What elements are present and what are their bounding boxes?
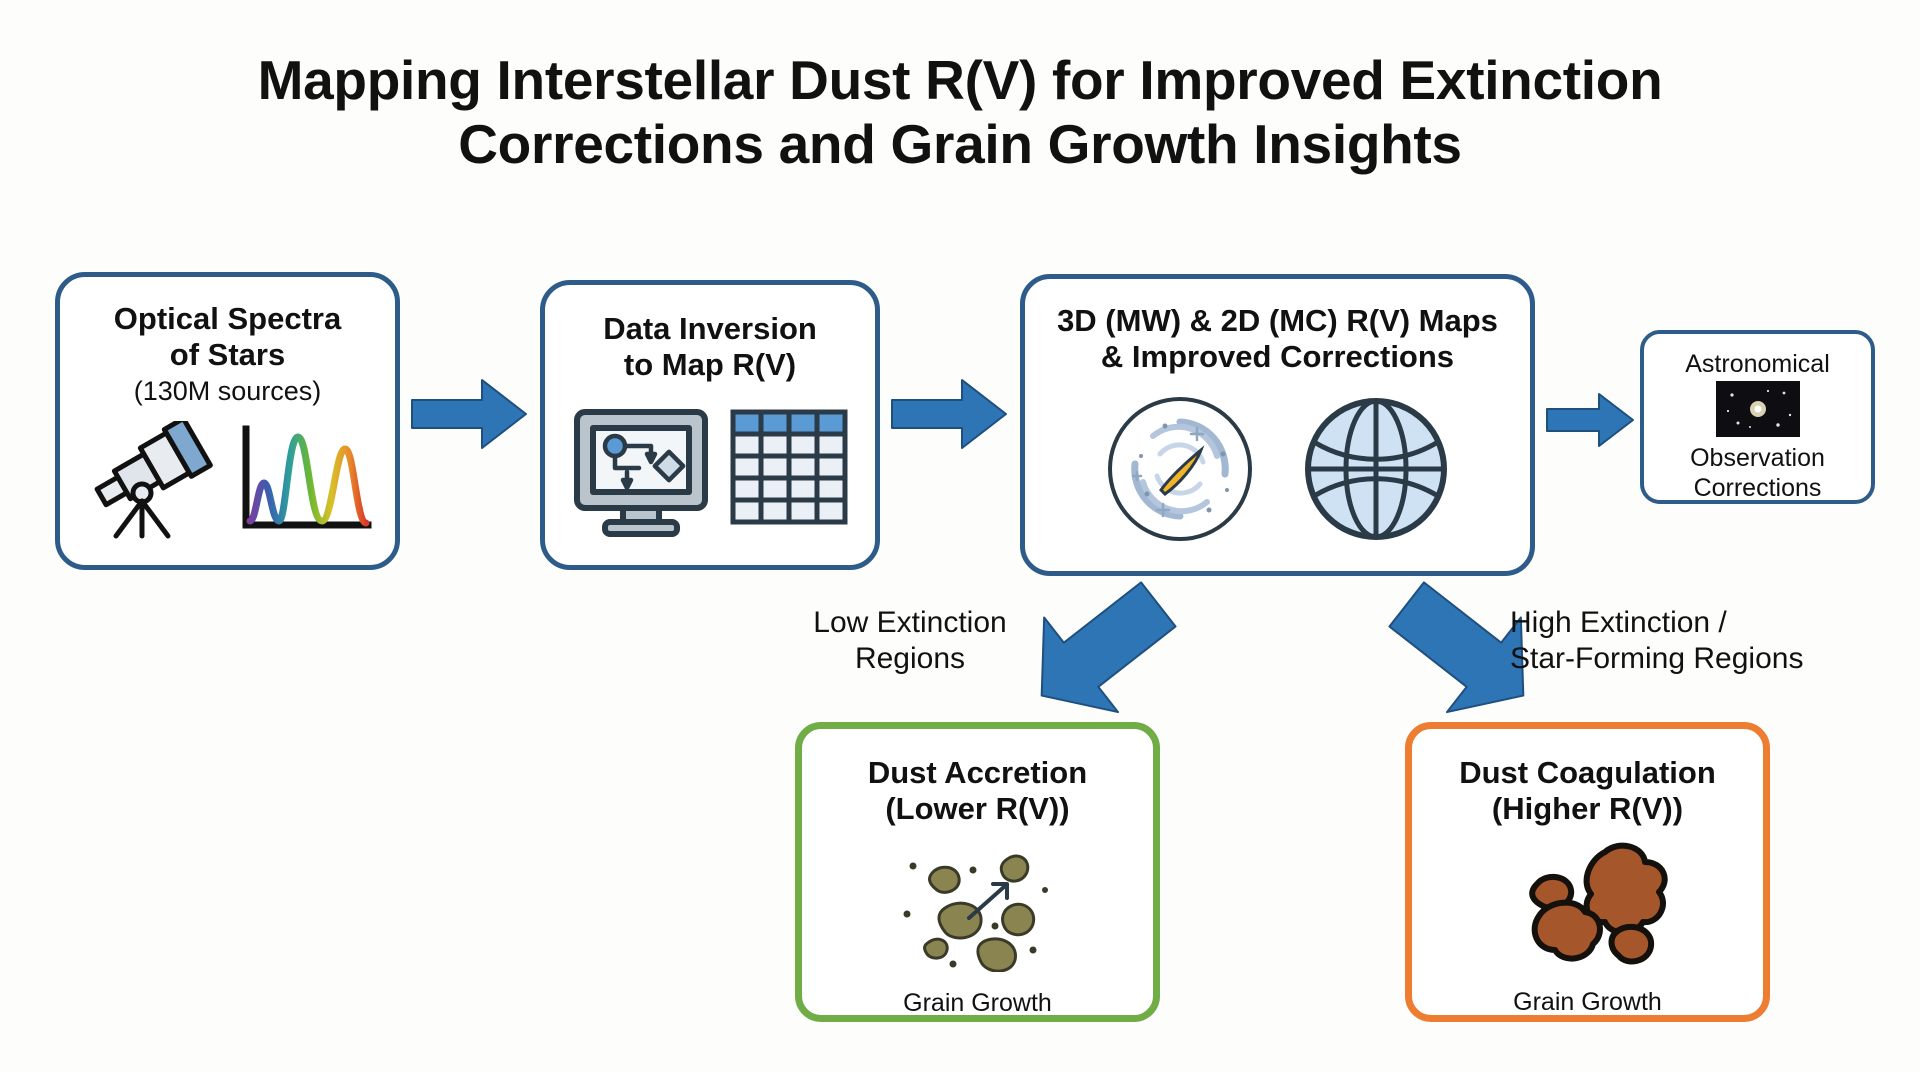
data-inversion-title-line-2: to Map R(V)	[624, 347, 796, 382]
page-title: Mapping Interstellar Dust R(V) for Impro…	[160, 48, 1760, 177]
dust-accretion-title-line-2: (Lower R(V))	[885, 791, 1069, 826]
sky-image-thumbnail-icon	[1716, 381, 1800, 442]
outcome-dust-accretion-caption: Grain Growth	[903, 989, 1052, 1018]
spiral-galaxy-icon	[1105, 394, 1255, 549]
optical-spectra-title-line-2: of Stars	[170, 337, 285, 372]
dust-coagulation-title-line-2: (Higher R(V))	[1492, 791, 1683, 826]
arrow-right-icon-3	[1545, 392, 1635, 453]
flow-box-optical-spectra-subtitle: (130M sources)	[134, 376, 322, 408]
arrow-right-icon-1	[410, 378, 528, 455]
large-dust-clumps-icon	[1493, 838, 1683, 978]
flow-box-optical-spectra[interactable]: Optical Spectra of Stars (130M sources)	[55, 272, 400, 570]
branch-label-low-line-2: Regions	[855, 642, 965, 675]
page-title-line-2: Corrections and Grain Growth Insights	[160, 112, 1760, 176]
outcome-dust-coagulation-title: Dust Coagulation (Higher R(V))	[1459, 755, 1716, 828]
page-title-line-1: Mapping Interstellar Dust R(V) for Impro…	[160, 48, 1760, 112]
branch-label-low-line-1: Low Extinction	[813, 606, 1006, 639]
outcome-box-dust-coagulation[interactable]: Dust Coagulation (Higher R(V)) Grain Gro…	[1405, 722, 1770, 1022]
observation-corrections-line-3: Corrections	[1694, 474, 1822, 503]
dust-accretion-title-line-1: Dust Accretion	[868, 755, 1087, 790]
branch-label-low-extinction: Low Extinction Regions	[780, 605, 1040, 677]
arrow-right-icon-2	[890, 378, 1008, 455]
data-inversion-title-line-1: Data Inversion	[603, 311, 817, 346]
diagram-canvas: Mapping Interstellar Dust R(V) for Impro…	[0, 0, 1920, 1072]
flow-box-rv-maps-title: 3D (MW) & 2D (MC) R(V) Maps & Improved C…	[1057, 303, 1498, 376]
rv-maps-title-line-1: 3D (MW) & 2D (MC) R(V) Maps	[1057, 303, 1498, 338]
small-dust-grains-icon	[883, 842, 1073, 977]
spectrum-chart-icon	[232, 421, 372, 544]
flow-box-data-inversion[interactable]: Data Inversion to Map R(V)	[540, 280, 880, 570]
dust-coagulation-title-line-1: Dust Coagulation	[1459, 755, 1716, 790]
data-table-icon	[729, 406, 849, 543]
branch-label-high-line-2: Star-Forming Regions	[1510, 642, 1803, 675]
flow-box-observation-corrections[interactable]: Astronomical Observation Corrections	[1640, 330, 1875, 504]
branch-label-high-extinction: High Extinction / Star-Forming Regions	[1510, 605, 1910, 677]
outcome-box-dust-accretion[interactable]: Dust Accretion (Lower R(V))	[795, 722, 1160, 1022]
branch-label-high-line-1: High Extinction /	[1510, 606, 1727, 639]
outcome-dust-accretion-title: Dust Accretion (Lower R(V))	[868, 755, 1087, 828]
telescope-icon	[84, 421, 214, 544]
flow-box-data-inversion-title: Data Inversion to Map R(V)	[603, 311, 817, 384]
observation-corrections-line-1: Astronomical	[1685, 350, 1830, 379]
flow-box-optical-spectra-title: Optical Spectra of Stars	[114, 301, 341, 374]
optical-spectra-title-line-1: Optical Spectra	[114, 301, 341, 336]
globe-icon	[1301, 394, 1451, 549]
flow-box-rv-maps[interactable]: 3D (MW) & 2D (MC) R(V) Maps & Improved C…	[1020, 274, 1535, 576]
monitor-flowchart-icon	[571, 406, 711, 543]
rv-maps-title-line-2: & Improved Corrections	[1101, 339, 1454, 374]
outcome-dust-coagulation-caption: Grain Growth	[1513, 988, 1662, 1017]
observation-corrections-line-2: Observation	[1690, 444, 1825, 473]
